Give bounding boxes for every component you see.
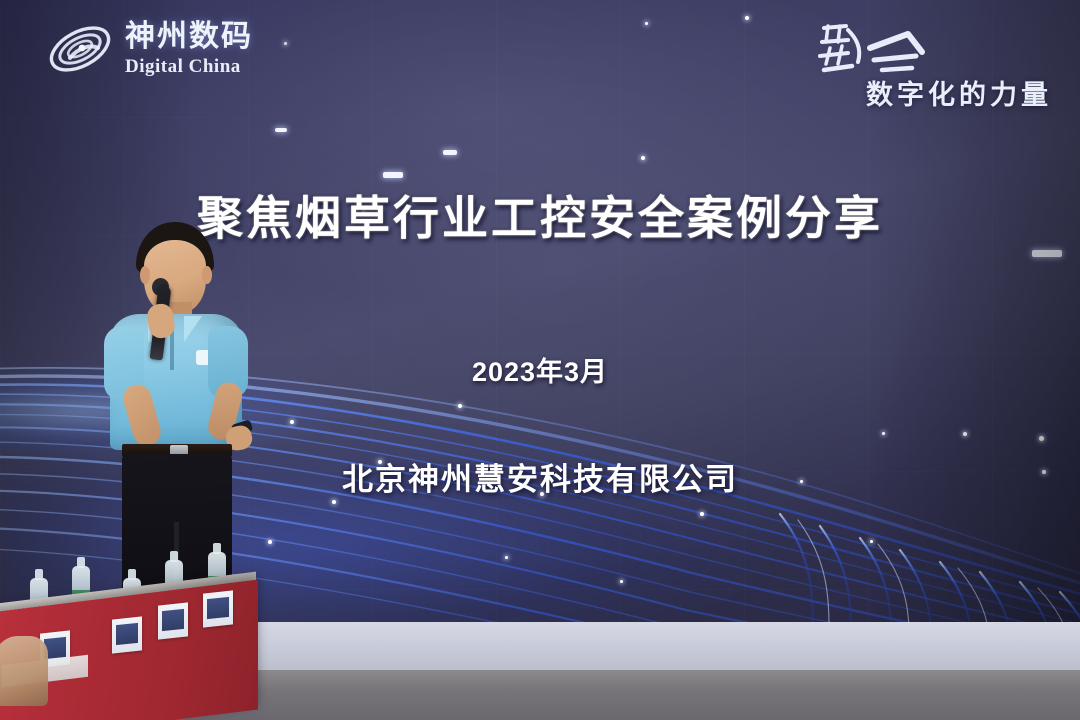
stage-photo: 神州数码 Digital China xyxy=(0,0,1080,720)
particle-dot xyxy=(505,556,508,559)
particle-dot xyxy=(458,404,462,408)
name-card-text xyxy=(207,597,229,619)
logo-text-cn: 神州数码 xyxy=(125,22,253,52)
particle-dash xyxy=(275,128,287,132)
name-card-text xyxy=(162,609,184,631)
digital-china-logo: 神州数码 Digital China xyxy=(44,18,253,80)
particle-dot xyxy=(963,432,967,436)
name-card xyxy=(112,616,142,653)
name-card xyxy=(158,602,188,639)
name-card xyxy=(203,590,233,627)
particle-dot xyxy=(332,500,336,504)
particle-dot xyxy=(882,432,885,435)
particle-dot xyxy=(645,22,648,25)
swirl-galaxy-icon xyxy=(44,18,116,80)
particle-dash xyxy=(1032,250,1062,257)
event-slogan: 数字化的力量 xyxy=(866,73,1052,112)
particle-dot xyxy=(870,540,873,543)
particle-dot xyxy=(1039,436,1044,441)
logo-text-en: Digital China xyxy=(125,57,253,76)
event-brand-logo: 数字化的力量 xyxy=(804,16,1054,114)
particle-dot xyxy=(620,580,623,583)
presenter-shirt-placket xyxy=(170,330,174,370)
particle-dash xyxy=(443,150,457,155)
particle-dash xyxy=(383,172,403,178)
presenter-ear-left xyxy=(140,266,150,284)
particle-dot xyxy=(641,156,645,160)
presenter xyxy=(92,222,292,626)
presenter-collar-right xyxy=(184,316,202,342)
presenter-ear-right xyxy=(202,266,212,284)
seated-attendee xyxy=(0,636,48,706)
particle-dot xyxy=(700,512,704,516)
particle-dot xyxy=(745,16,749,20)
digital-china-wordmark: 神州数码 Digital China xyxy=(125,22,253,76)
brush-calligraphy-juhe-icon xyxy=(812,18,936,80)
name-card-text xyxy=(116,623,138,645)
particle-dot xyxy=(284,42,287,45)
